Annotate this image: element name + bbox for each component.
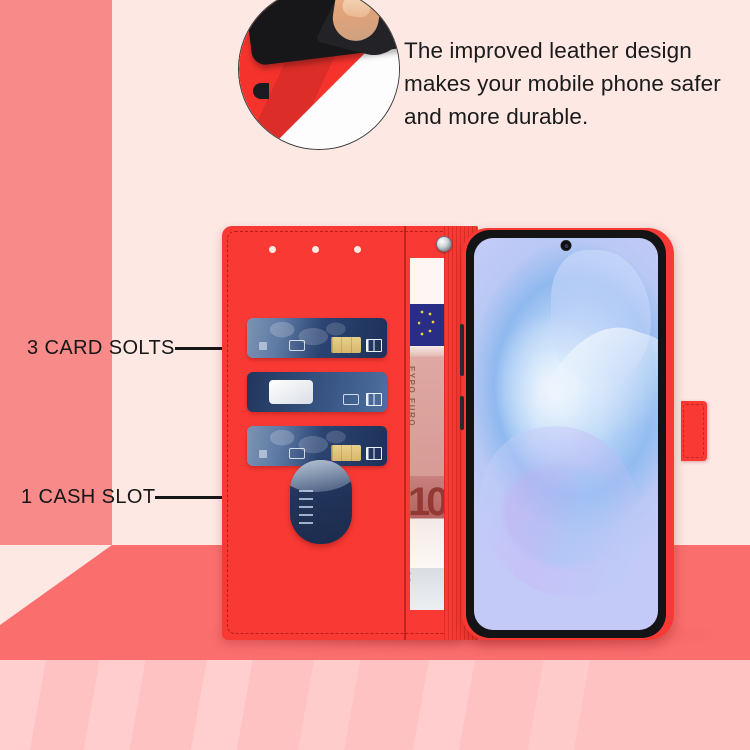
cash-pocket-ridges bbox=[299, 490, 313, 530]
front-camera-icon bbox=[561, 240, 572, 251]
side-strap-tab bbox=[681, 401, 707, 461]
rivet-dot bbox=[354, 246, 361, 253]
card-hologram-box bbox=[289, 448, 305, 459]
rivet-dot bbox=[269, 246, 276, 253]
phone-in-case bbox=[462, 228, 674, 640]
card-white-panel bbox=[269, 380, 313, 404]
volume-button[interactable] bbox=[460, 324, 464, 376]
callout-card-slots-label: 3 CARD SOLTS bbox=[27, 337, 175, 360]
phone-screen bbox=[474, 238, 658, 630]
left-wall-panel bbox=[0, 0, 112, 545]
card-hologram-box bbox=[343, 394, 359, 405]
cash-slot-pocket bbox=[290, 460, 352, 544]
product-infographic: The improved leather design makes your m… bbox=[0, 0, 750, 750]
card-brand-logo bbox=[366, 393, 382, 406]
power-button[interactable] bbox=[460, 396, 464, 430]
banknote-large-numeral: 10 bbox=[410, 480, 444, 525]
card-detail-mark bbox=[259, 450, 267, 458]
card-hologram-box bbox=[289, 340, 305, 351]
eu-stars-icon bbox=[418, 308, 436, 342]
floor-front-band bbox=[0, 660, 750, 750]
banknote-bottom-denomination: 10 bbox=[410, 570, 413, 583]
card-brand-logo bbox=[366, 447, 382, 460]
cash-pocket-highlight bbox=[290, 460, 352, 492]
wallet-fold-crease bbox=[404, 226, 406, 640]
magnetic-snap-button bbox=[436, 236, 452, 252]
leather-closeup-inset bbox=[238, 0, 400, 150]
euro-banknote: 10 EYPO EURO 10 10 bbox=[410, 258, 444, 610]
card-face bbox=[247, 372, 387, 412]
inset-edge-nub bbox=[253, 83, 269, 99]
card-chip-icon bbox=[331, 445, 361, 461]
card-slot bbox=[247, 372, 387, 412]
banknote-top-denomination: 10 bbox=[410, 266, 413, 281]
card-brand-logo bbox=[366, 339, 382, 352]
phone-bezel-frame bbox=[466, 230, 666, 638]
callout-cash-slot-label: 1 CASH SLOT bbox=[21, 486, 155, 509]
card-chip-icon bbox=[331, 337, 361, 353]
wallet-rivet-row bbox=[269, 245, 361, 253]
headline-text: The improved leather design makes your m… bbox=[404, 34, 734, 133]
banknote-mid-text: EYPO EURO bbox=[410, 366, 416, 427]
card-detail-mark bbox=[259, 342, 267, 350]
rivet-dot bbox=[312, 246, 319, 253]
card-slot bbox=[247, 318, 387, 358]
